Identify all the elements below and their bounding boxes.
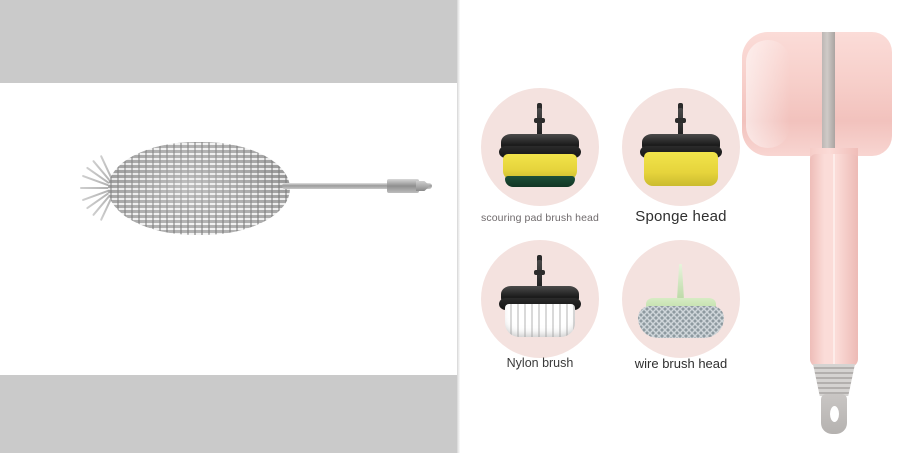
right-panel-attachments[interactable]: scouring pad brush head Sponge head Nylo… [460,0,919,453]
bottle-brush-product [82,138,422,238]
sponge-head-icon [622,88,740,206]
attachment-label: scouring pad brush head [459,212,621,224]
handheld-cleaning-brush-device [724,28,904,418]
product-gallery: scouring pad brush head Sponge head Nylo… [0,0,919,453]
brush-hex-connector [387,179,419,193]
attachment-label: Nylon brush [459,356,621,370]
letterbox-top [0,0,457,83]
device-hanging-hole [830,406,839,422]
device-handle [810,154,858,367]
letterbox-bottom [0,375,457,453]
left-panel-bottle-brush[interactable] [0,0,457,453]
brush-bristle-barrel [108,142,290,235]
device-accent-band [822,32,835,156]
nylon-brush-icon [481,240,599,358]
scouring-pad-brush-icon [481,88,599,206]
device-motor-housing [742,32,892,156]
device-ribbed-cap [813,364,855,396]
wire-brush-head-icon [622,240,740,358]
